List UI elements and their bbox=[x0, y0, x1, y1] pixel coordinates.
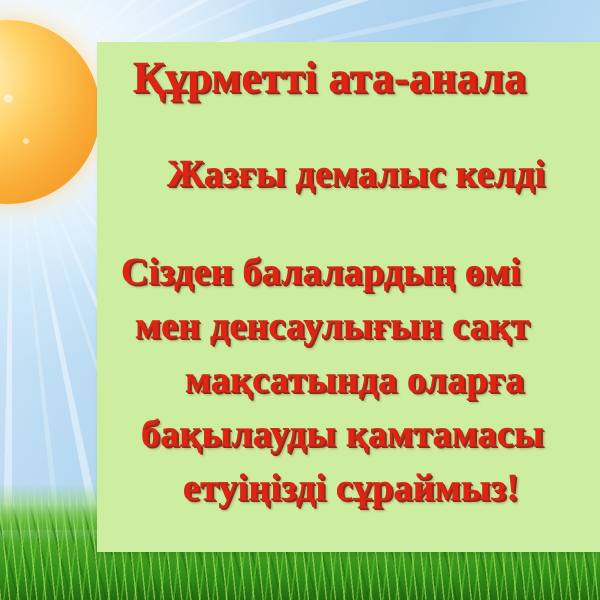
poster-canvas: Құрметті ата-анала Жазғы демалыс келді С… bbox=[0, 0, 600, 600]
message-line-4: мен денсаулығын сақт bbox=[135, 304, 530, 348]
sun-disc bbox=[0, 20, 100, 204]
sun-icon bbox=[0, 12, 108, 212]
message-line-2: Жазғы демалыс келді bbox=[167, 152, 545, 196]
message-line-7: етуіңізді сұраймыз! bbox=[183, 466, 519, 510]
sun-highlight bbox=[23, 138, 29, 144]
message-line-5: мақсатында оларға bbox=[185, 358, 524, 402]
sun-highlight bbox=[4, 94, 13, 103]
message-line-3: Сізден балалардың өмі bbox=[121, 250, 521, 294]
message-line-6: бақылауды қамтамасы bbox=[141, 412, 544, 456]
message-line-1: Құрметті ата-анала bbox=[133, 52, 526, 103]
message-text-block: Құрметті ата-анала Жазғы демалыс келді С… bbox=[97, 42, 600, 552]
